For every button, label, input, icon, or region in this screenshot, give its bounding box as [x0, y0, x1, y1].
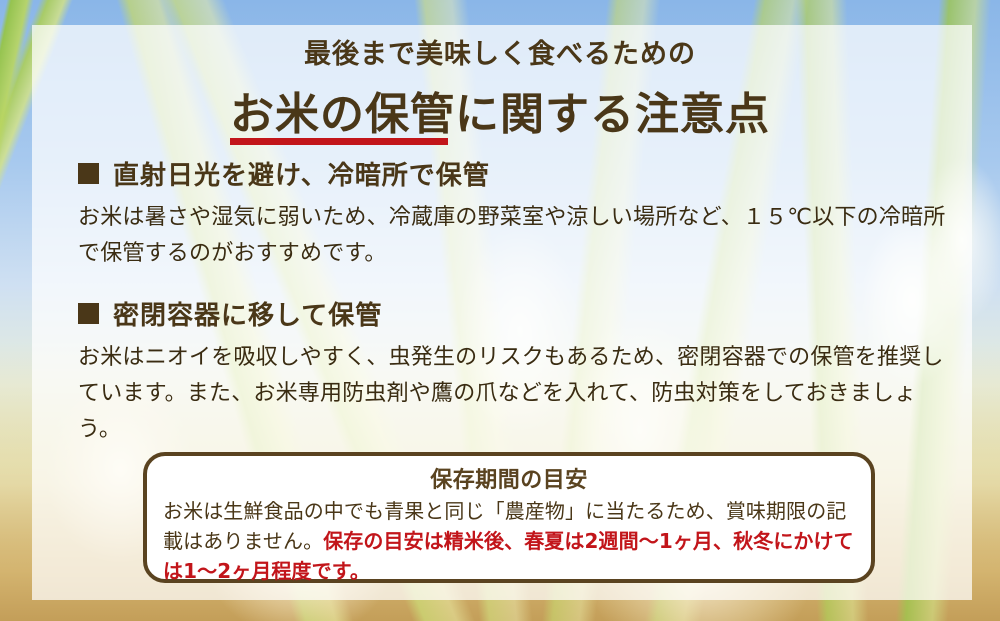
storage-period-note-box: 保存期間の目安 お米は生鮮食品の中でも青果と同じ「農産物」に当たるため、賞味期限…	[143, 452, 875, 583]
section-body-2: お米はニオイを吸収しやすく、虫発生のリスクもあるため、密閉容器での保管を推奨して…	[78, 340, 950, 447]
section-heading-1: 直射日光を避け、冷暗所で保管	[78, 155, 950, 192]
section-heading-1-label: 直射日光を避け、冷暗所で保管	[113, 155, 490, 192]
note-box-body: お米は生鮮食品の中でも青果と同じ「農産物」に当たるため、賞味期限の記載はありませ…	[163, 496, 855, 586]
note-box-title: 保存期間の目安	[163, 462, 855, 494]
page-title: お米の保管に関する注意点	[230, 78, 770, 142]
header-title-wrapper: お米の保管に関する注意点	[230, 78, 770, 142]
title-red-underline	[230, 138, 448, 145]
filled-square-icon	[78, 303, 99, 324]
header-subtitle: 最後まで美味しく食べるための	[0, 0, 1000, 71]
section-body-1: お米は暑さや湿気に弱いため、冷蔵庫の野菜室や涼しい場所など、１５℃以下の冷暗所で…	[78, 200, 950, 271]
poster-header: 最後まで美味しく食べるための お米の保管に関する注意点	[0, 0, 1000, 142]
main-content: 直射日光を避け、冷暗所で保管 お米は暑さや湿気に弱いため、冷蔵庫の野菜室や涼しい…	[78, 155, 950, 469]
section-heading-2-label: 密閉容器に移して保管	[113, 295, 382, 332]
filled-square-icon	[78, 163, 99, 184]
section-heading-2: 密閉容器に移して保管	[78, 295, 950, 332]
poster-root: 最後まで美味しく食べるための お米の保管に関する注意点 直射日光を避け、冷暗所で…	[0, 0, 1000, 621]
